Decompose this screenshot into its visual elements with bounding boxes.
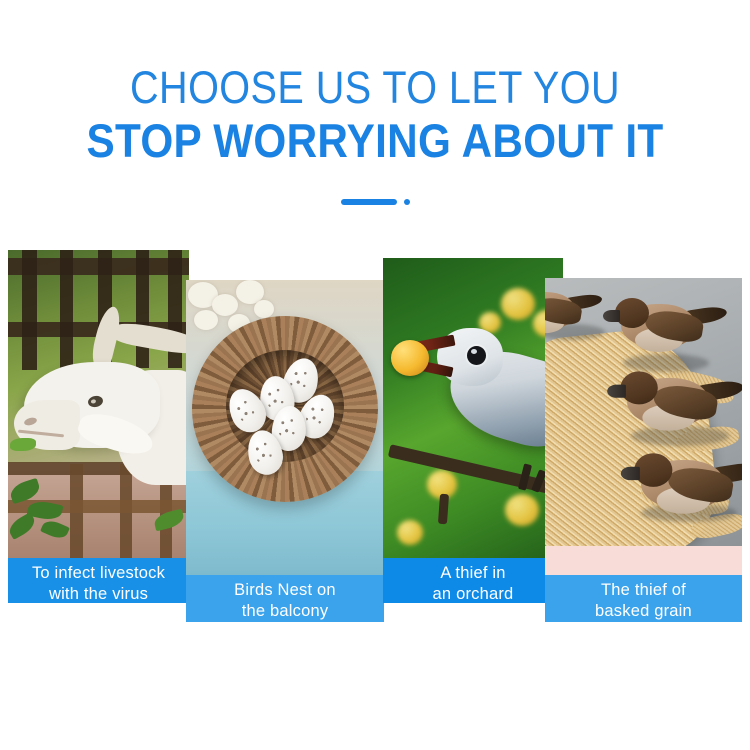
card-caption-grain: The thief of basked grain xyxy=(545,575,742,622)
card-accent-band xyxy=(545,546,742,575)
feature-card-grain[interactable]: The thief of basked grain xyxy=(545,278,742,622)
caption-line-1: A thief in xyxy=(387,563,559,584)
divider-ornament xyxy=(0,199,750,205)
caption-line-1: To infect livestock xyxy=(12,563,185,584)
card-caption-livestock: To infect livestock with the virus xyxy=(8,558,189,603)
headline-line-2: STOP WORRYING ABOUT IT xyxy=(38,114,713,168)
caption-line-2: the balcony xyxy=(190,601,380,622)
photo-birds-nest xyxy=(186,280,384,575)
caption-line-1: The thief of xyxy=(549,580,738,601)
divider-bar-icon xyxy=(341,199,397,205)
card-caption-nest: Birds Nest on the balcony xyxy=(186,575,384,622)
feature-card-livestock[interactable]: To infect livestock with the virus xyxy=(8,250,189,603)
card-caption-orchard: A thief in an orchard xyxy=(383,558,563,603)
feature-card-nest[interactable]: Birds Nest on the balcony xyxy=(186,280,384,622)
headline-block: CHOOSE US TO LET YOU STOP WORRYING ABOUT… xyxy=(0,62,750,168)
photo-bird-with-fruit xyxy=(383,258,563,558)
divider-dot-icon xyxy=(404,199,410,205)
photo-finches-on-grain xyxy=(545,278,742,546)
caption-line-2: with the virus xyxy=(12,584,185,603)
photo-goat-at-fence xyxy=(8,250,189,558)
caption-line-2: basked grain xyxy=(549,601,738,622)
feature-card-orchard[interactable]: A thief in an orchard xyxy=(383,258,563,603)
caption-line-2: an orchard xyxy=(387,584,559,603)
headline-line-1: CHOOSE US TO LET YOU xyxy=(45,62,705,114)
caption-line-1: Birds Nest on xyxy=(190,580,380,601)
